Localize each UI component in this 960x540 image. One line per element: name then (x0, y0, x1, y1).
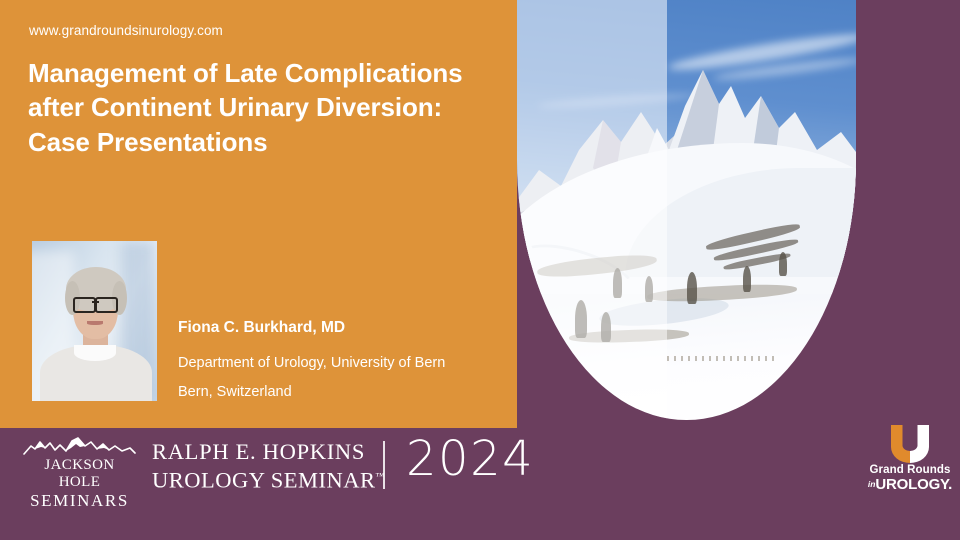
urology-word: UROLOGY. (875, 476, 952, 493)
speaker-headshot (32, 241, 157, 401)
tree (779, 252, 787, 276)
jackson-hole-seminars-logo: JACKSON HOLE SEMINARS (22, 437, 137, 493)
speaker-department: Department of Urology, University of Ber… (178, 355, 445, 371)
tree (743, 266, 751, 292)
seminar-line2-text: UROLOGY SEMINAR (152, 468, 376, 493)
hero-shield-image (517, 0, 856, 420)
slide-root: www.grandroundsinurology.com Management … (0, 0, 960, 540)
page-title: Management of Late Complications after C… (28, 56, 478, 159)
footer-divider (383, 441, 385, 489)
headshot-collar (74, 345, 116, 361)
lens-left (73, 297, 96, 313)
eyeglasses-icon (73, 297, 118, 309)
headshot-mouth (87, 321, 103, 325)
lens-right (95, 297, 118, 313)
year-label: 2024 (406, 431, 534, 487)
jackson-hole-line2: SEMINARS (22, 491, 137, 510)
grand-rounds-line2: inUROLOGY. (862, 477, 958, 492)
website-url: www.grandroundsinurology.com (29, 23, 223, 38)
grand-rounds-in-urology-logo: Grand Rounds inUROLOGY. (862, 423, 958, 495)
mountain-range-icon (22, 437, 137, 456)
mountain-photo (517, 0, 856, 420)
ralph-hopkins-urology-seminar-wordmark: RALPH E. HOPKINS UROLOGY SEMINAR™ (152, 439, 384, 493)
fence (667, 356, 777, 361)
speaker-location: Bern, Switzerland (178, 384, 292, 400)
speaker-name: Fiona C. Burkhard, MD (178, 319, 345, 337)
tree (687, 272, 697, 304)
u-logo-icon (887, 423, 933, 463)
photo-light-overlay (517, 0, 667, 420)
jackson-hole-line1: JACKSON HOLE (22, 457, 137, 491)
seminar-line1: RALPH E. HOPKINS (152, 439, 384, 464)
seminar-line2: UROLOGY SEMINAR™ (152, 464, 384, 493)
